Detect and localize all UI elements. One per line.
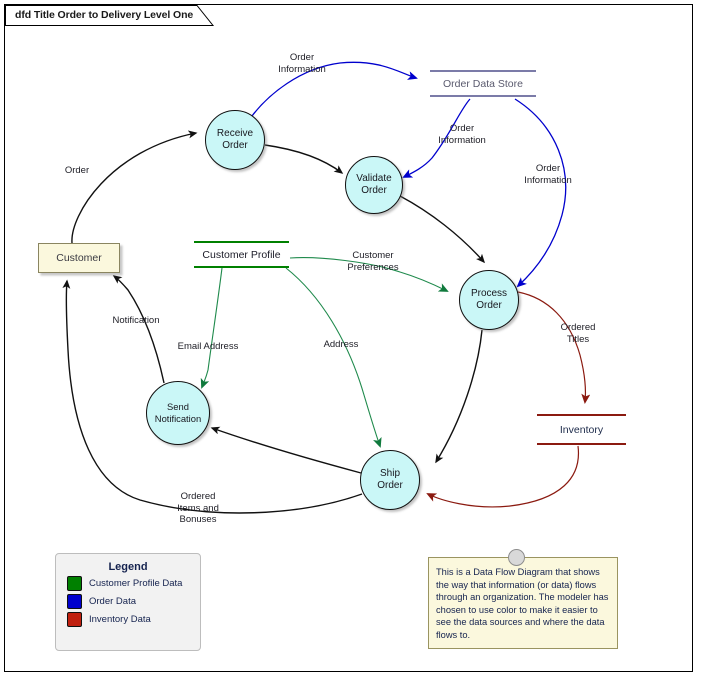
data-store-customer-profile[interactable]: Customer Profile	[194, 241, 289, 268]
process-send-notification-label: Send Notification	[155, 401, 201, 425]
legend-swatch-inventory-data	[67, 612, 82, 627]
legend-label-customer-profile-data: Customer Profile Data	[89, 578, 182, 589]
data-store-inventory-label: Inventory	[560, 424, 603, 436]
process-validate-order-label: Validate Order	[356, 173, 391, 197]
process-validate-order[interactable]: Validate Order	[345, 156, 403, 214]
legend-swatch-customer-profile-data	[67, 576, 82, 591]
dfd-canvas: dfd Title Order to Delivery Level One	[0, 0, 701, 680]
external-entity-customer-label: Customer	[56, 252, 102, 264]
process-ship-order[interactable]: Ship Order	[360, 450, 420, 510]
customer-profile-store-top-bar	[194, 241, 289, 243]
external-entity-customer[interactable]: Customer	[38, 243, 120, 273]
inventory-store-bottom-bar	[537, 443, 626, 445]
legend-panel: Legend Customer Profile Data Order Data …	[55, 553, 201, 651]
legend-title: Legend	[56, 561, 200, 573]
legend-label-inventory-data: Inventory Data	[89, 614, 151, 625]
process-ship-order-label: Ship Order	[377, 468, 403, 492]
data-store-order-data-store[interactable]: Order Data Store	[430, 70, 536, 97]
legend-item-inventory-data: Inventory Data	[67, 612, 200, 627]
order-store-bottom-bar	[430, 95, 536, 97]
process-send-notification[interactable]: Send Notification	[146, 381, 210, 445]
process-process-order[interactable]: Process Order	[459, 270, 519, 330]
process-receive-order-label: Receive Order	[217, 128, 253, 152]
note-text: This is a Data Flow Diagram that shows t…	[436, 567, 608, 640]
process-process-order-label: Process Order	[471, 288, 507, 312]
inventory-store-top-bar	[537, 414, 626, 416]
data-store-customer-profile-label: Customer Profile	[202, 249, 280, 261]
legend-item-order-data: Order Data	[67, 594, 200, 609]
page-title: dfd Title Order to Delivery Level One	[15, 9, 193, 21]
customer-profile-store-bottom-bar	[194, 266, 289, 268]
note-box: This is a Data Flow Diagram that shows t…	[428, 557, 618, 649]
order-store-top-bar	[430, 70, 536, 72]
legend-label-order-data: Order Data	[89, 596, 136, 607]
legend-item-customer-profile-data: Customer Profile Data	[67, 576, 200, 591]
legend-swatch-order-data	[67, 594, 82, 609]
data-store-inventory[interactable]: Inventory	[537, 414, 626, 445]
process-receive-order[interactable]: Receive Order	[205, 110, 265, 170]
data-store-order-data-store-label: Order Data Store	[443, 78, 523, 90]
note-pin-icon	[508, 549, 525, 566]
